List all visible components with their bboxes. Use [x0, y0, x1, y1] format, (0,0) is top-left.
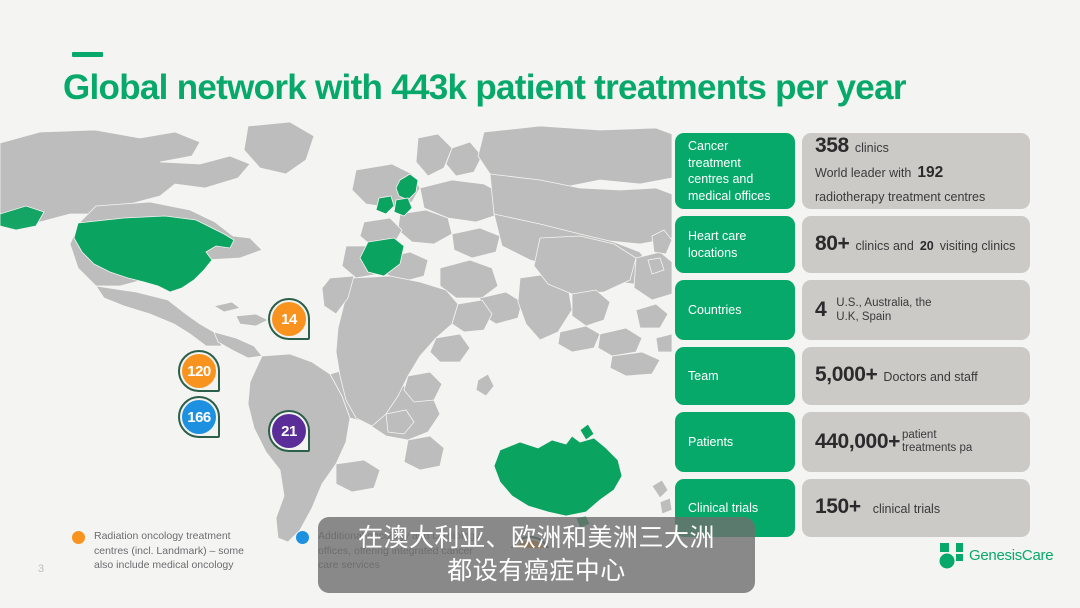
stat-value-heart-care: 80+ clinics and 20 visiting clinics	[802, 216, 1030, 273]
map-marker-166[interactable]: 166	[178, 396, 220, 438]
stat-countries-line2: U.K, Spain	[836, 310, 931, 324]
subtitle-line-2: 都设有癌症中心	[447, 555, 626, 588]
stat-150-number: 150+	[815, 498, 861, 516]
stat-20-suffix: visiting clinics	[940, 237, 1016, 255]
stat-150-unit: clinical trials	[873, 500, 940, 518]
stat-5000-number: 5,000+	[815, 366, 877, 384]
stat-80-prefix: clinics and	[855, 237, 913, 255]
stat-patients-line1: patient	[902, 429, 972, 443]
map-marker-14-value: 14	[272, 302, 306, 336]
page-title: Global network with 443k patient treatme…	[63, 66, 1023, 110]
stat-192-number: 192	[917, 164, 943, 182]
stat-4-number: 4	[815, 301, 826, 319]
map-marker-21[interactable]: 21	[268, 410, 310, 452]
stat-value-team: 5,000+ Doctors and staff	[802, 347, 1030, 405]
table-row: Countries 4 U.S., Australia, the U.K, Sp…	[675, 280, 1030, 340]
table-row: Heart care locations 80+ clinics and 20 …	[675, 216, 1030, 273]
stat-value-countries: 4 U.S., Australia, the U.K, Spain	[802, 280, 1030, 340]
stat-358-unit: clinics	[855, 139, 889, 157]
stat-358-number: 358	[815, 137, 849, 155]
subtitle-overlay: 在澳大利亚、欧洲和美洲三大洲 都设有癌症中心	[318, 517, 755, 593]
table-row: Cancer treatment centres and medical off…	[675, 133, 1030, 209]
map-marker-120-value: 120	[182, 354, 216, 388]
stat-countries-line1: U.S., Australia, the	[836, 296, 931, 310]
stat-patients-line2: treatments pa	[902, 442, 972, 456]
stat-label-patients: Patients	[675, 412, 795, 472]
stat-label-team: Team	[675, 347, 795, 405]
stats-table: Cancer treatment centres and medical off…	[675, 133, 1030, 544]
stat-20-number: 20	[920, 237, 934, 255]
stat-label-countries: Countries	[675, 280, 795, 340]
legend-dot-blue-icon	[296, 531, 309, 544]
legend-item-radiation-oncology: Radiation oncology treatment centres (in…	[72, 529, 266, 573]
world-map-svg	[0, 118, 672, 548]
map-marker-21-value: 21	[272, 414, 306, 448]
legend-text-orange: Radiation oncology treatment centres (in…	[94, 529, 266, 573]
stat-label-heart-care: Heart care locations	[675, 216, 795, 273]
stat-192-suffix: radiotherapy treatment centres	[815, 188, 1017, 206]
stat-label-cancer-centres: Cancer treatment centres and medical off…	[675, 133, 795, 209]
map-marker-14[interactable]: 14	[268, 298, 310, 340]
slide-canvas: Global network with 443k patient treatme…	[0, 0, 1080, 608]
stat-192-prefix: World leader with	[815, 164, 911, 182]
genesiscare-logo: GenesisCare	[938, 541, 1053, 569]
stat-5000-unit: Doctors and staff	[883, 368, 977, 386]
map-marker-166-value: 166	[182, 400, 216, 434]
genesiscare-mark-icon	[938, 541, 964, 569]
map-marker-120[interactable]: 120	[178, 350, 220, 392]
stat-value-clinical-trials: 150+ clinical trials	[802, 479, 1030, 537]
table-row: Patients 440,000+ patient treatments pa	[675, 412, 1030, 472]
stat-80-number: 80+	[815, 235, 849, 253]
page-number: 3	[38, 563, 44, 575]
table-row: Team 5,000+ Doctors and staff	[675, 347, 1030, 405]
world-map-container: 14 120 166 21 37 80	[0, 118, 672, 548]
legend-dot-orange-icon	[72, 531, 85, 544]
stat-440000-number: 440,000+	[815, 433, 900, 451]
stat-value-cancer-centres: 358 clinics World leader with 192 radiot…	[802, 133, 1030, 209]
subtitle-line-1: 在澳大利亚、欧洲和美洲三大洲	[358, 522, 715, 555]
stat-value-patients: 440,000+ patient treatments pa	[802, 412, 1030, 472]
title-accent-dash	[72, 52, 103, 57]
genesiscare-logo-text: GenesisCare	[969, 547, 1053, 564]
